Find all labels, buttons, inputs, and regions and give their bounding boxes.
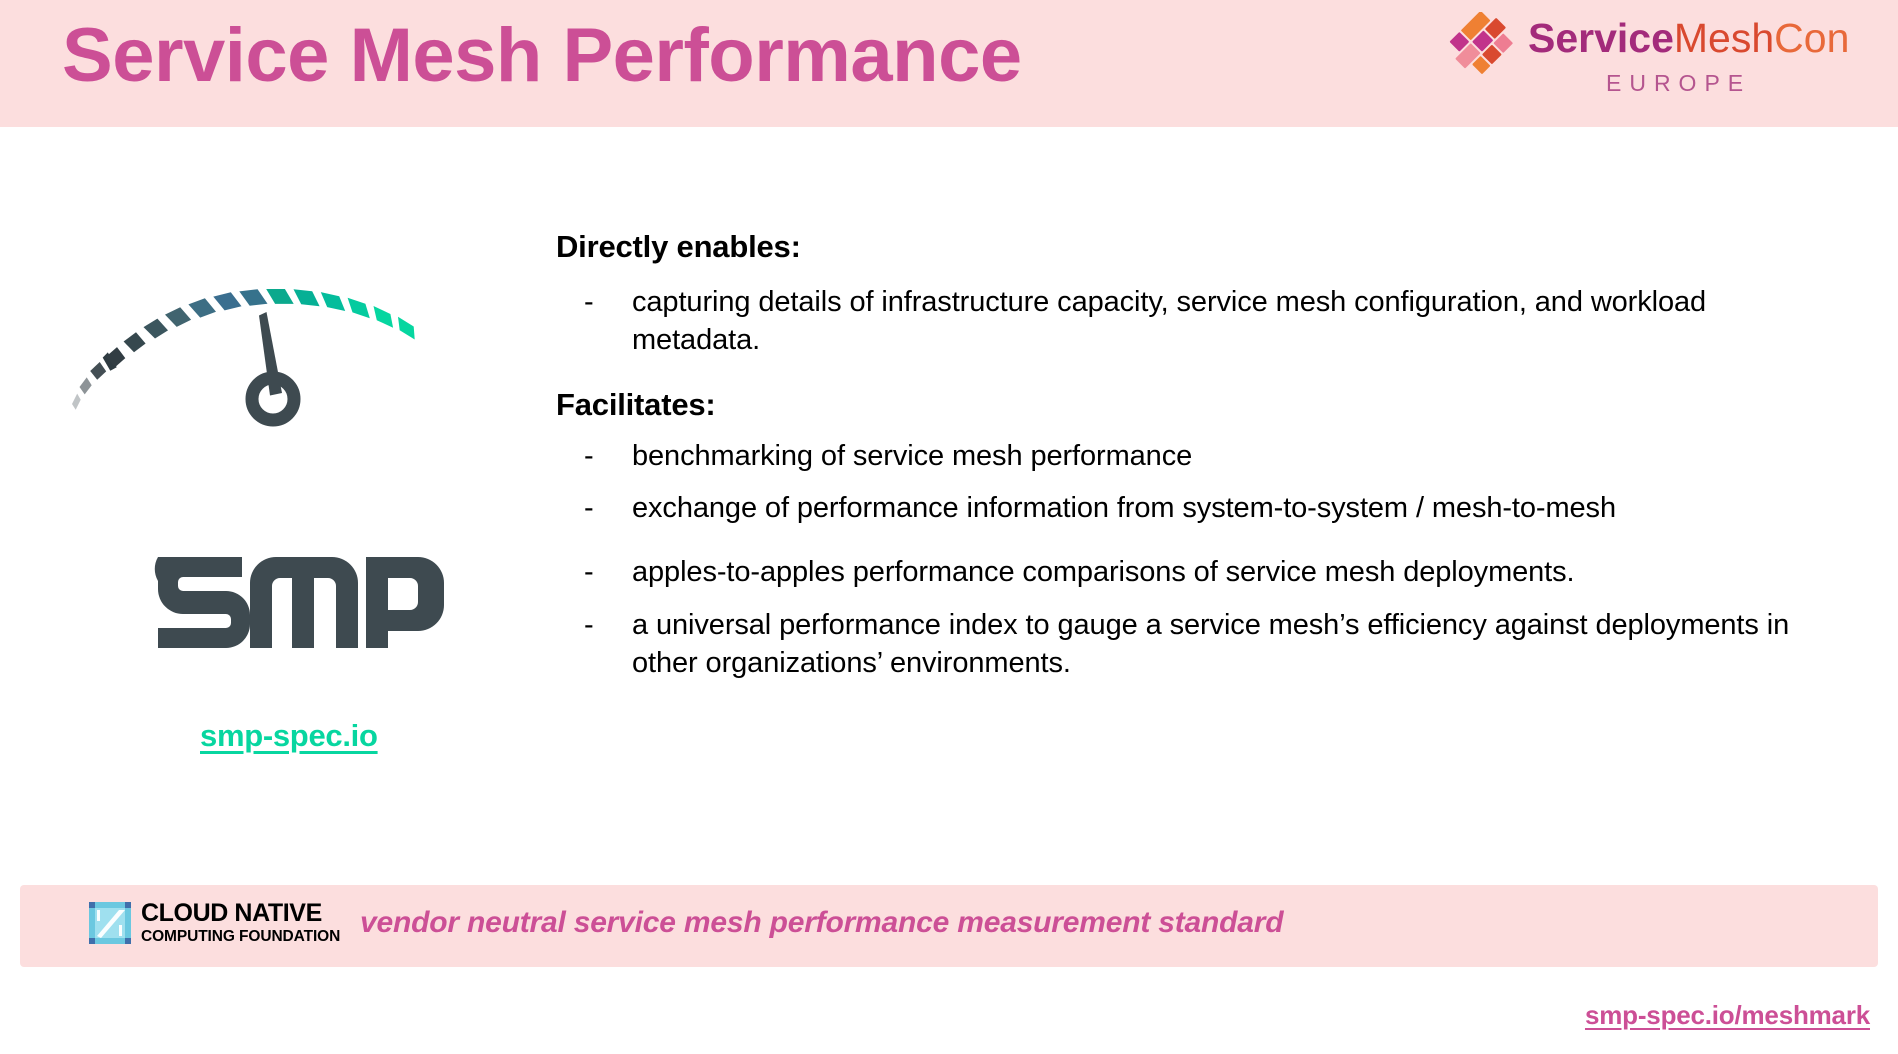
footer-meshmark-link[interactable]: smp-spec.io/meshmark [1585,1000,1870,1031]
bullet-text: apples-to-apples performance comparisons… [632,553,1575,591]
logo-word-mesh: Mesh [1674,15,1774,61]
list-item: - benchmarking of service mesh performan… [584,437,1856,475]
bullet-text: capturing details of infrastructure capa… [632,283,1827,360]
banner-tagline: vendor neutral service mesh performance … [360,906,1283,940]
bottom-banner: CLOUD NATIVE COMPUTING FOUNDATION vendor… [20,885,1878,967]
bullet-marker: - [584,553,632,591]
list-item: - apples-to-apples performance compariso… [584,553,1856,591]
cncf-logo: CLOUD NATIVE COMPUTING FOUNDATION [88,901,340,945]
bullet-text: a universal performance index to gauge a… [632,606,1827,683]
servicemeshcon-wordmark: ServiceMeshCon [1528,18,1849,59]
logo-word-service: Service [1528,15,1674,61]
logo-region-label: EUROPE [1606,70,1751,97]
cncf-logo-icon [88,901,132,945]
bullet-marker: - [584,489,632,527]
gauge-segments [72,289,415,410]
smp-wordmark [150,545,450,650]
cncf-logo-text: CLOUD NATIVE COMPUTING FOUNDATION [141,901,340,945]
servicemeshcon-diamond-icon [1448,12,1516,80]
list-item: - exchange of performance information fr… [584,489,1856,527]
section-heading-directly-enables: Directly enables: [556,228,1856,265]
bullet-marker: - [584,437,632,475]
bullet-marker: - [584,606,632,644]
cncf-line-1: CLOUD NATIVE [141,901,340,926]
bullet-text: benchmarking of service mesh performance [632,437,1192,475]
page-title: Service Mesh Performance [62,14,1022,98]
servicemeshcon-logo: ServiceMeshCon EUROPE [1436,8,1856,113]
smp-gauge-graphic [70,195,540,455]
bullet-text: exchange of performance information from… [632,489,1616,527]
section-heading-facilitates: Facilitates: [556,386,1856,423]
cncf-line-2: COMPUTING FOUNDATION [141,929,340,945]
gauge-needle [252,312,294,420]
slide-root: Service Mesh Performance ServiceMeshCon … [0,0,1898,1054]
smp-spec-link[interactable]: smp-spec.io [200,718,378,754]
logo-word-con: Con [1774,15,1849,61]
bullet-marker: - [584,283,632,321]
content-column: Directly enables: - capturing details of… [556,228,1856,708]
list-item: - a universal performance index to gauge… [584,606,1856,683]
list-item: - capturing details of infrastructure ca… [584,283,1856,360]
